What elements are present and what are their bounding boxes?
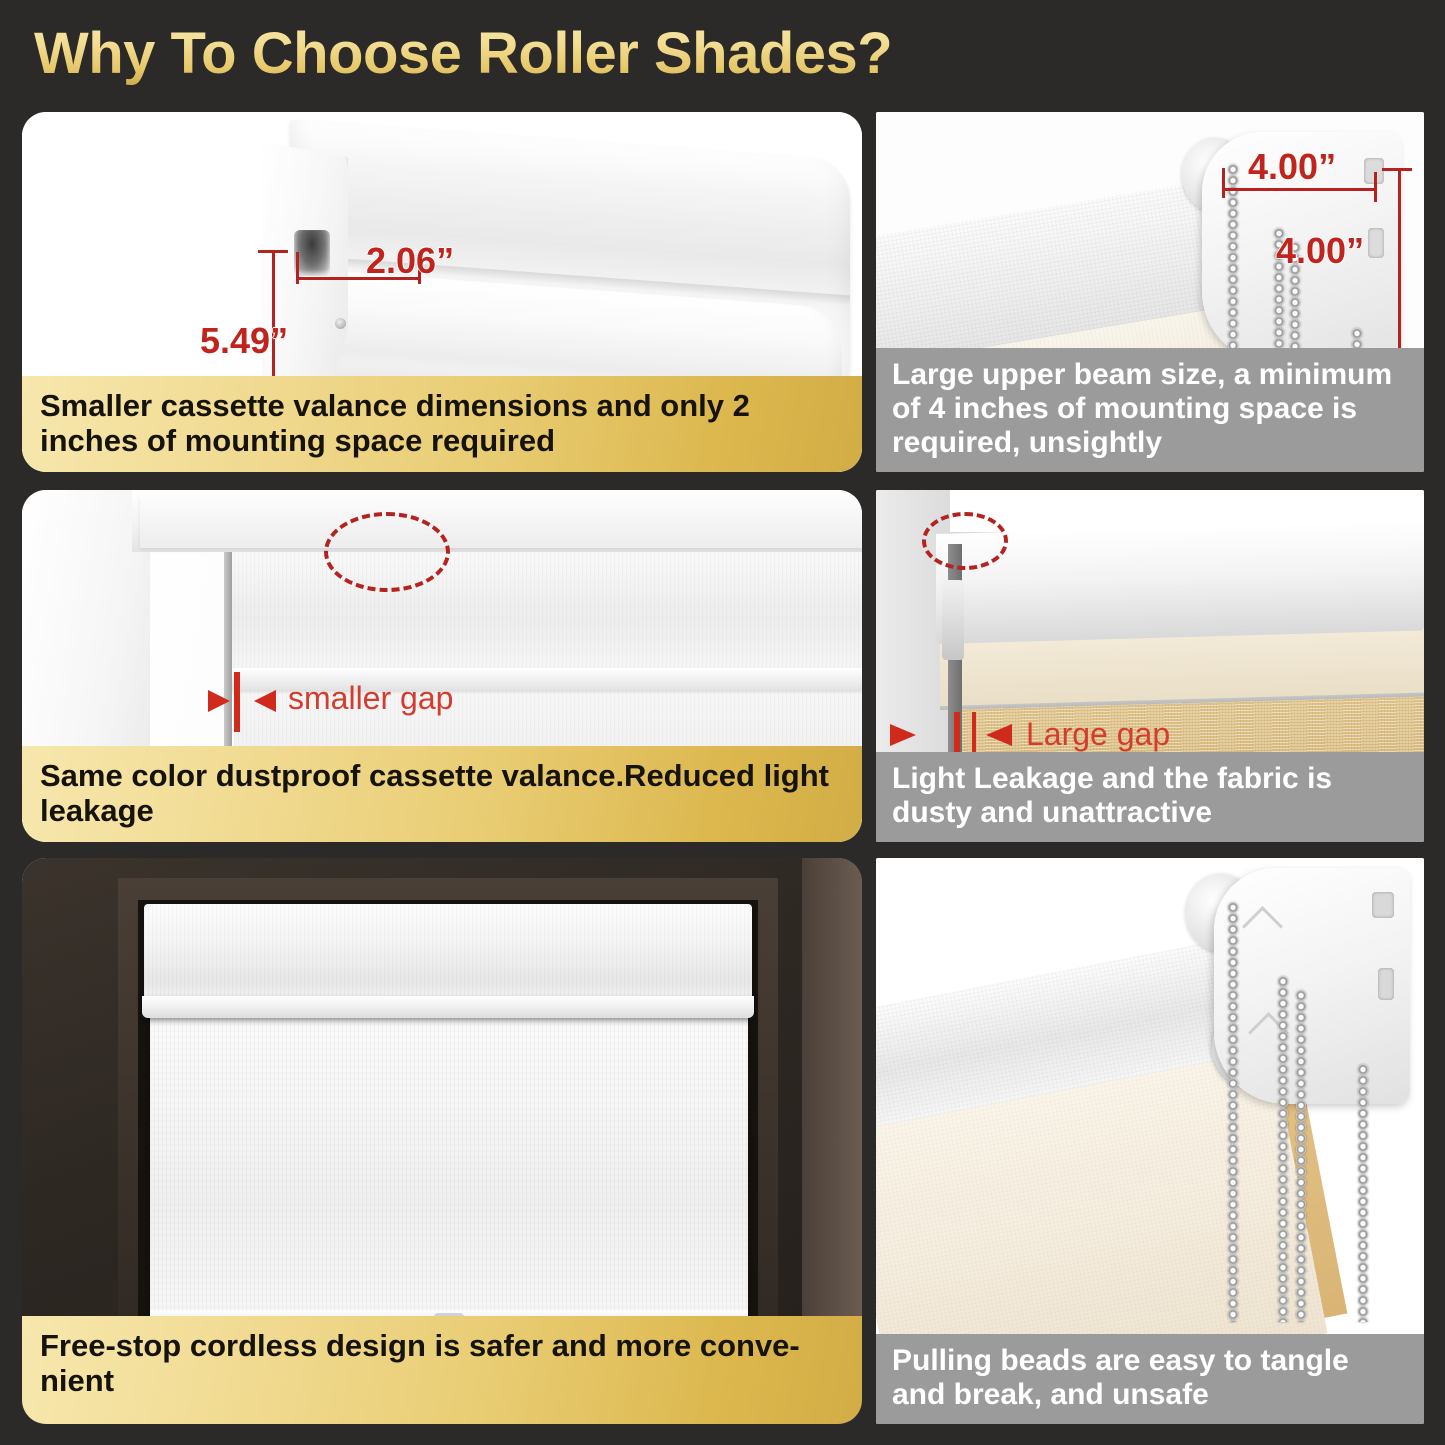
gap-arrow-right — [254, 690, 276, 712]
caption-con-light-leakage: Light Leakage and the fabric is dusty an… — [876, 752, 1424, 842]
dimension-tick-right — [1374, 172, 1377, 202]
window-casing — [140, 496, 862, 548]
caption-pro-cordless-design: Free-stop cordless design is safer and m… — [22, 1316, 862, 1424]
gap-indicator-line-2 — [972, 712, 976, 758]
bracket-chevron-icon — [1242, 906, 1283, 947]
dimension-line-vertical — [1398, 168, 1401, 354]
gap-indicator-line — [234, 672, 240, 732]
caption-con-beam-size: Large upper beam size, a minimum of 4 in… — [876, 348, 1424, 472]
caption-pro-dustproof-valance: Same color dustproof cassette valance.Re… — [22, 746, 862, 842]
shade-upper-panel — [230, 548, 862, 672]
dimension-label-width: 4.00” — [1248, 146, 1336, 188]
bead-chain-4 — [1358, 1064, 1368, 1322]
panel-con-beam-size: 4.00” 4.00” Large upper beam size, a min… — [876, 112, 1424, 472]
page-title: Why To Choose Roller Shades? — [34, 20, 892, 87]
bead-chain-1 — [1228, 902, 1238, 1322]
panel-pro-cordless-design: Free-stop cordless design is safer and m… — [22, 858, 862, 1424]
dimension-label-height: 5.49” — [200, 320, 288, 362]
dimension-label-width: 2.06” — [366, 240, 454, 282]
highlight-ellipse — [324, 512, 450, 592]
caption-con-pulling-beads: Pulling beads are easy to tangle and bre… — [876, 1334, 1424, 1424]
dimension-line-horizontal — [1224, 188, 1376, 191]
infographic-page: Why To Choose Roller Shades? 5.49” — [0, 0, 1445, 1445]
gap-arrow-left — [208, 690, 230, 712]
mounting-hook — [942, 580, 964, 660]
gap-arrow-right — [986, 724, 1012, 746]
caption-pro-cassette-size: Smaller cassette valance dimensions and … — [22, 376, 862, 472]
gap-label-large: Large gap — [1026, 716, 1170, 753]
panel-pro-cassette-size: 5.49” 2.06” Smaller cassette valance dim… — [22, 112, 862, 472]
gap-indicator-line — [954, 712, 960, 758]
cassette-lip — [142, 996, 754, 1018]
roller-shade-fabric — [150, 1016, 748, 1326]
panel-con-light-leakage: Large gap Light Leakage and the fabric i… — [876, 490, 1424, 842]
beads-bracket — [1214, 868, 1410, 1104]
bead-chain-3 — [1296, 990, 1306, 1322]
dimension-tick-top — [258, 250, 288, 253]
valance-slot — [294, 230, 330, 276]
dimension-tick-left — [1222, 168, 1225, 198]
valance-screw-top — [335, 318, 346, 329]
dimension-tick-top — [1382, 168, 1412, 171]
panel-pro-dustproof-valance: smaller gap Same color dustproof cassett… — [22, 490, 862, 842]
gap-arrow-left — [890, 724, 916, 746]
dimension-tick-left — [296, 252, 299, 284]
dimension-label-height: 4.00” — [1276, 230, 1364, 272]
valance-bar — [936, 520, 1424, 644]
highlight-ellipse — [922, 512, 1008, 570]
bead-chain-2 — [1278, 976, 1288, 1322]
panel-con-pulling-beads: Pulling beads are easy to tangle and bre… — [876, 858, 1424, 1424]
gap-label-smaller: smaller gap — [288, 680, 453, 717]
